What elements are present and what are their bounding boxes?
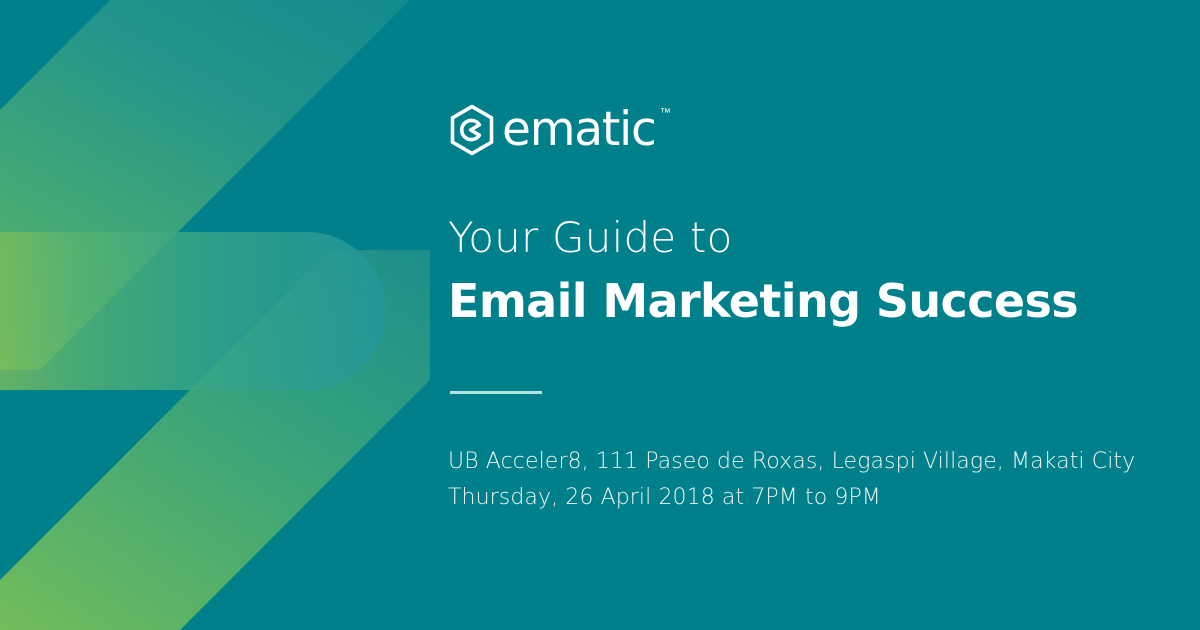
trademark-symbol: ™ (660, 108, 670, 119)
event-datetime: Thursday, 26 April 2018 at 7PM to 9PM (448, 480, 1148, 516)
hero-headline: Email Marketing Success (448, 272, 1078, 330)
brand-logo: ematic ™ (448, 104, 656, 156)
ematic-hexagon-e-logo-icon (448, 104, 496, 156)
promo-banner: ematic ™ Your Guide to Email Marketing S… (0, 0, 1200, 630)
brand-wordmark-text: ematic (502, 102, 656, 157)
divider-rule (450, 391, 542, 394)
content-column: ematic ™ Your Guide to Email Marketing S… (448, 0, 1148, 630)
event-venue: UB Acceler8, 111 Paseo de Roxas, Legaspi… (448, 444, 1148, 480)
diagonal-bands-graphic (0, 0, 430, 630)
event-details: UB Acceler8, 111 Paseo de Roxas, Legaspi… (448, 444, 1148, 516)
hero-kicker: Your Guide to (448, 212, 732, 264)
brand-wordmark: ematic ™ (502, 104, 656, 156)
horizontal-band-rounded-cap (0, 232, 386, 390)
decorative-artwork (0, 0, 430, 630)
